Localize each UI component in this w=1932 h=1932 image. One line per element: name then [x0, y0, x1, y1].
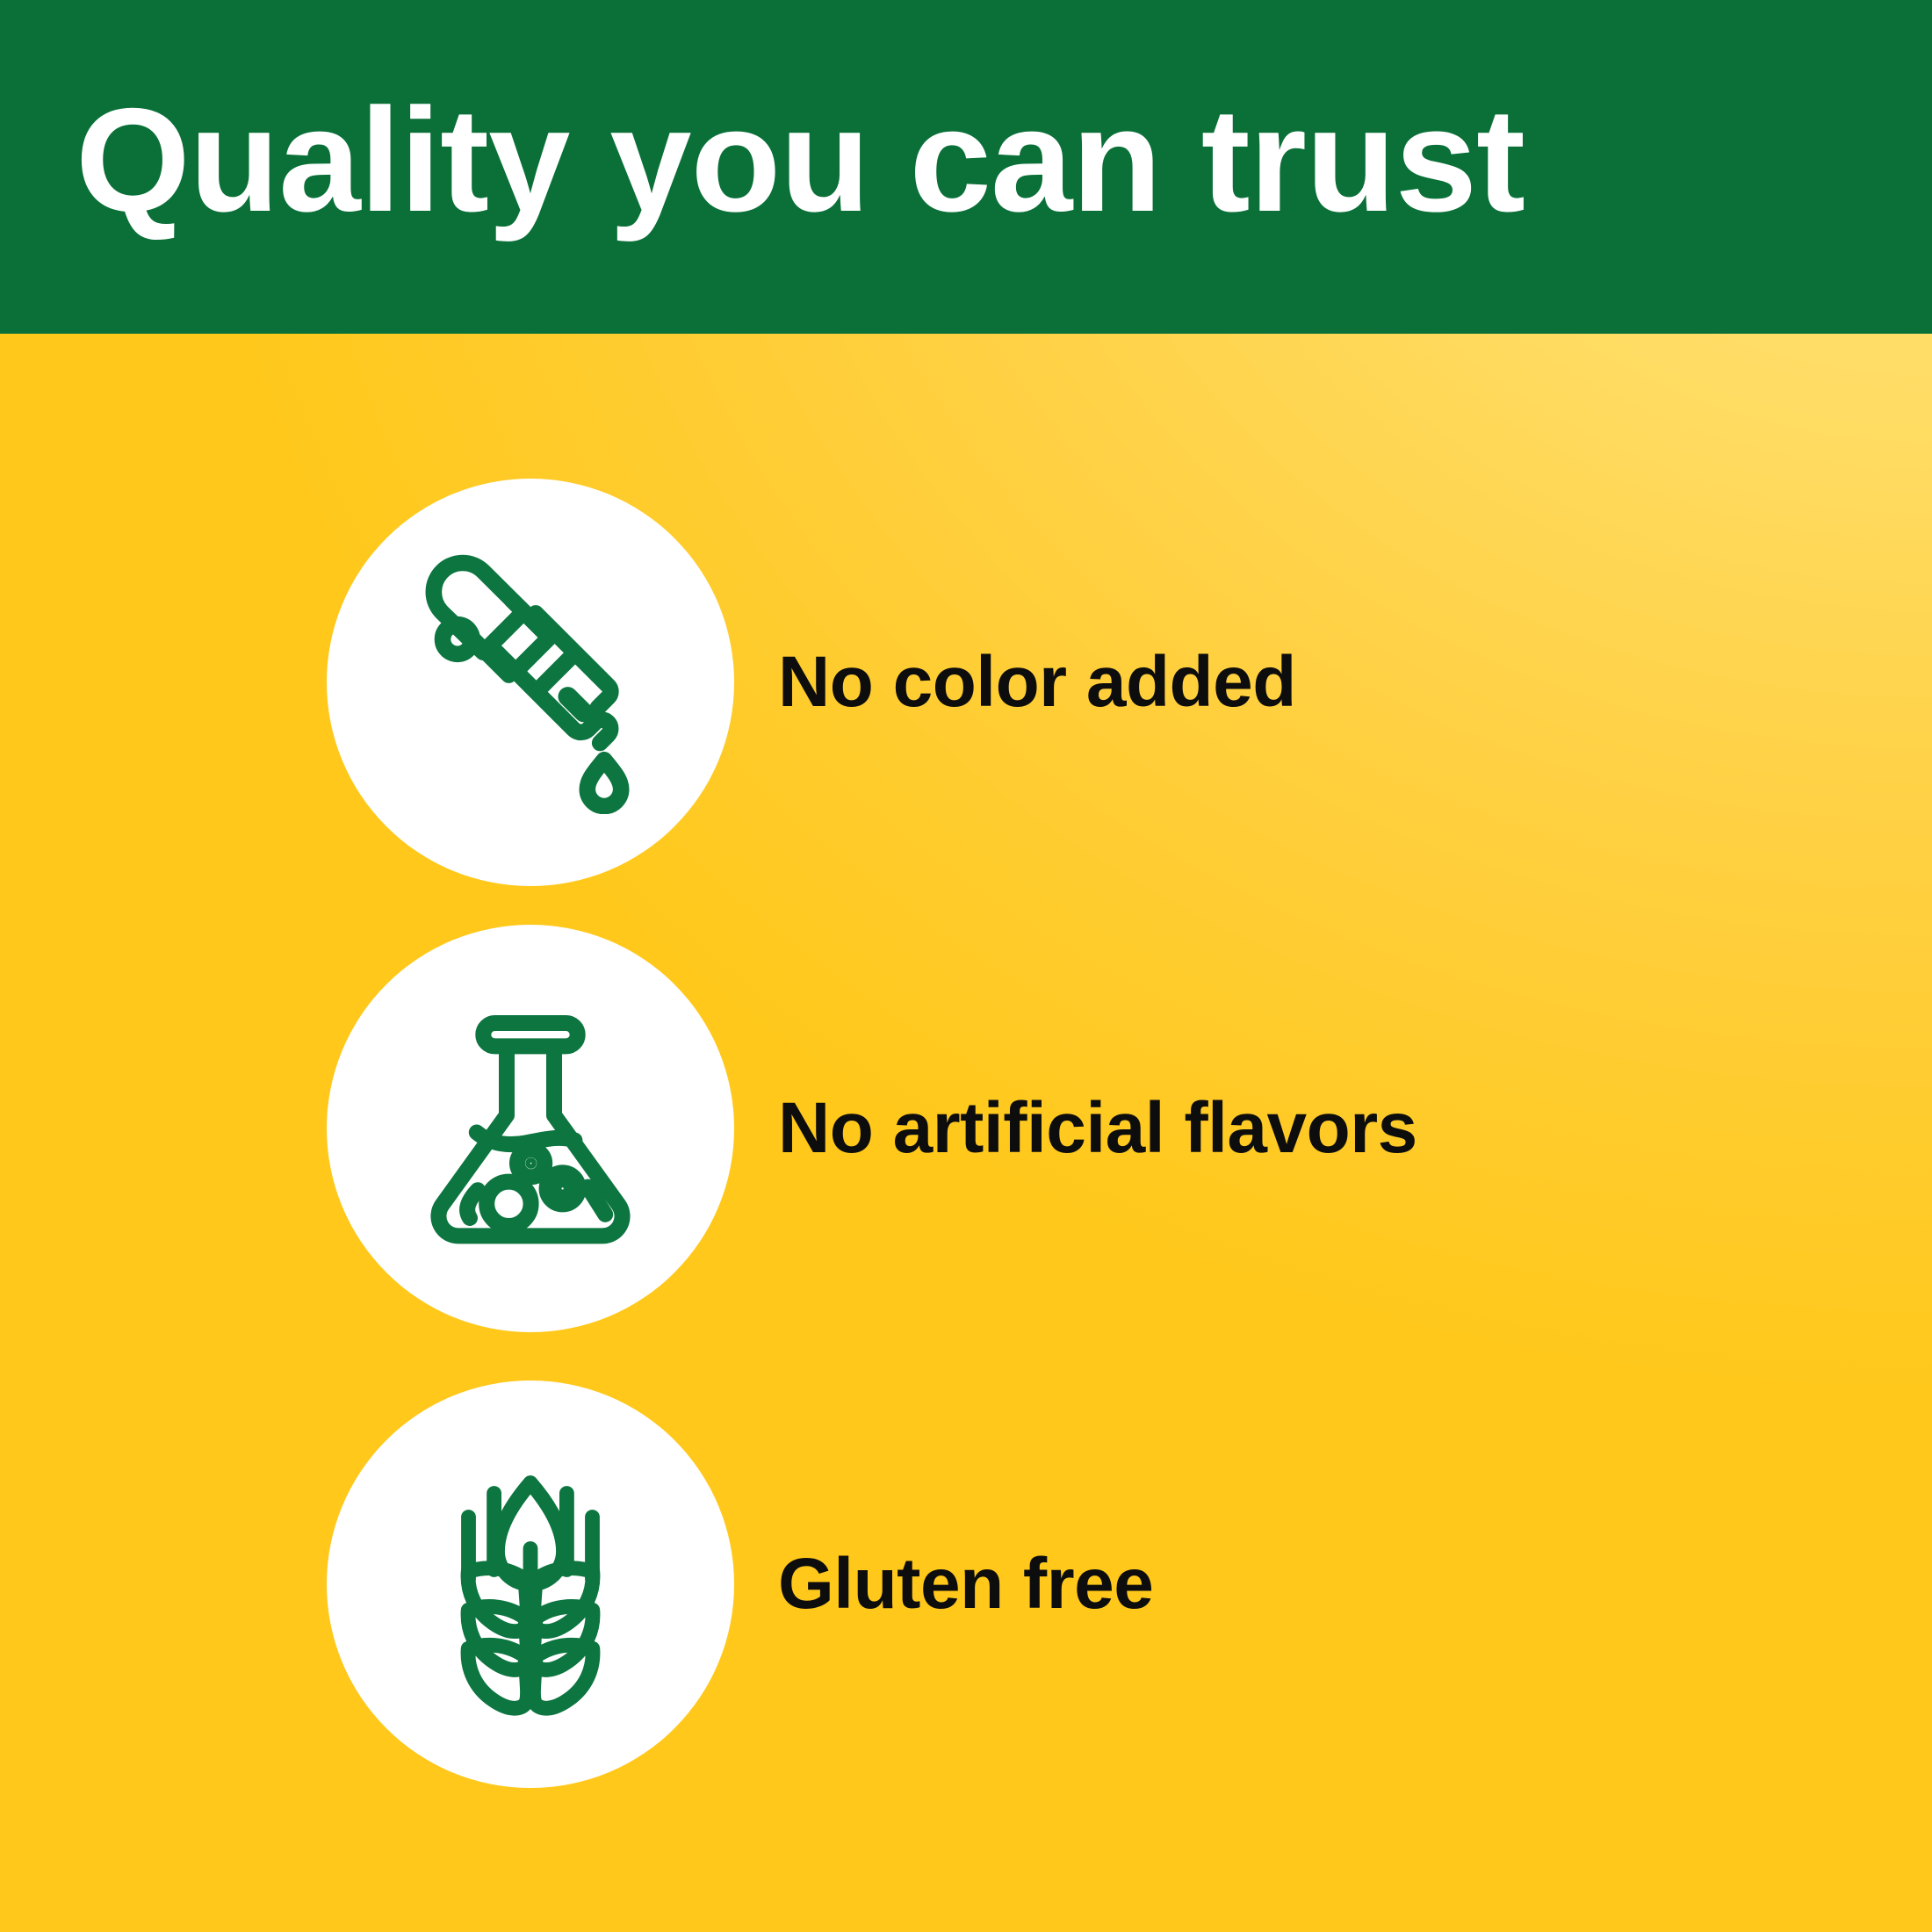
eyedropper-icon: [399, 551, 662, 814]
icon-badge: [327, 479, 734, 886]
page-title: Quality you can trust: [76, 86, 1525, 234]
feature-row: No color added: [327, 479, 1872, 886]
feature-row: Gluten free: [327, 1381, 1872, 1788]
feature-label: Gluten free: [778, 1546, 1153, 1622]
feature-row: No artificial flavors: [327, 925, 1872, 1332]
promo-graphic: Quality you can trust: [0, 0, 1932, 1932]
icon-badge: [327, 1381, 734, 1788]
header-band: Quality you can trust: [0, 0, 1932, 334]
feature-label: No artificial flavors: [778, 1091, 1417, 1166]
icon-badge: [327, 925, 734, 1332]
feature-label: No color added: [778, 645, 1296, 720]
flask-icon: [399, 997, 662, 1260]
wheat-icon: [399, 1453, 662, 1716]
